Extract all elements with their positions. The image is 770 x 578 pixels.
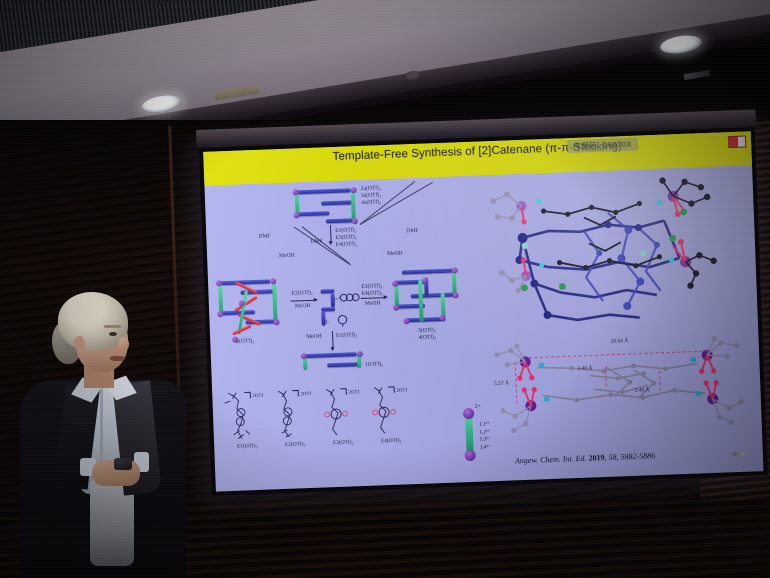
ligand-structure-1: 2OTf E1(OTf)₂ (222, 390, 270, 444)
crystal-structure-distances: 20.94 Å 5.57 Å 3.49 Å 3.49 Å (492, 331, 758, 451)
presenter-mouth (110, 356, 125, 361)
svg-text:2OTf: 2OTf (252, 394, 263, 399)
presentation-slide: Template-Free Synthesis of [2]Catenane (… (203, 131, 763, 491)
label-solvent-dmf-left: DMF (258, 233, 270, 240)
screen-cast-code-overlay: 传屏码: G6970X (567, 138, 638, 154)
distance-label-mid-left: 3.49 Å (577, 365, 592, 372)
legend-entry-4: L4²⁺ (480, 444, 491, 452)
legend-entries: L1²⁺ L2²⁺ L3²⁺ L4²⁺ (479, 421, 491, 451)
legend-entry-3: L3²⁺ (480, 436, 491, 444)
ligand-structure-3: 2OTf E3(OTf)₂ (318, 386, 366, 440)
conference-room-photo: Template-Free Synthesis of [2]Catenane (… (0, 0, 770, 578)
presenter-remote (114, 458, 132, 470)
label-solvent-meoh-right: MeOH (387, 250, 403, 258)
label-right-product-2: 4(OTf)₂ (418, 334, 436, 342)
citation-pages: , 58, 5882-5886 (604, 451, 655, 462)
ligand-structure-4: 2OTf E4(OTf)₂ (366, 384, 414, 438)
institution-logo-icon (728, 135, 746, 148)
label-bottom-solvent: MeOH (306, 334, 322, 342)
legend-metal-node-top (463, 408, 474, 419)
ligand-ring-icon (335, 312, 350, 327)
label-base-left: MeOH (295, 303, 311, 311)
ligand-label-4: E4(OTf)₂ (368, 437, 414, 445)
svg-text:2OTf: 2OTf (300, 392, 311, 397)
presenter-eye (109, 332, 117, 336)
citation-year: 2019 (588, 453, 604, 463)
legend-metal-node-bottom (465, 450, 476, 461)
label-center-reagent-3: E4(OTf)₂ (336, 241, 357, 249)
label-solvent-meoh-left: MeOH (279, 252, 295, 260)
presenter-ear (74, 336, 85, 351)
housing-brand-mark (684, 70, 711, 80)
ligand-structure-2: 2OTf E2(OTf)₂ (270, 388, 318, 442)
distance-label-mid-right: 3.49 Å (634, 387, 649, 394)
legend-charge: 2+ (475, 404, 481, 411)
presenter-eyebrow (104, 325, 121, 328)
citation-journal: Angew. Chem. Int. Ed. (515, 454, 589, 466)
mouse-cursor[interactable] (733, 452, 744, 456)
label-reagent-left: E2(OTf)₂ (291, 290, 312, 298)
ligand-schematic (338, 290, 360, 303)
label-solvent-dmf-center: DMF (310, 238, 322, 245)
svg-text:2OTf: 2OTf (396, 388, 407, 393)
projection-screen: Template-Free Synthesis of [2]Catenane (… (199, 127, 768, 496)
label-ligand-L: L (326, 319, 330, 326)
distance-label-left: 5.57 Å (494, 381, 509, 388)
ligand-label-1: E1(OTf)₂ (224, 443, 270, 451)
label-bottom-reagent: E1(OTf)₂ (336, 332, 357, 340)
ligand-label-2: E2(OTf)₂ (272, 441, 318, 449)
distance-label-top: 20.94 Å (610, 338, 628, 345)
presenter-nose (118, 337, 129, 351)
label-top-product-3: 4a(OTf)₂ (361, 199, 382, 207)
svg-text:2OTf: 2OTf (348, 390, 359, 395)
crystal-structure-catenane (486, 167, 754, 343)
label-solvent-dmf-right: DMF (406, 228, 418, 235)
legend-entry-1: L1²⁺ (479, 421, 490, 429)
presenter (14, 292, 196, 578)
label-left-product: 2(OTf)₂ (236, 338, 254, 346)
ligand-label-3: E3(OTf)₂ (320, 439, 366, 447)
label-base-right: MeOH (365, 300, 381, 308)
reaction-scheme: 2a(OTf)₂ 3a(OTf)₂ 4a(OTf)₂ DMF MeOH DMF … (208, 175, 497, 491)
citation: Angew. Chem. Int. Ed. 2019, 58, 5882-588… (515, 451, 656, 465)
label-bottom-product: 1(OTf)₂ (365, 361, 383, 369)
label-reagent-right-2: E4(OTf)₂ (361, 290, 382, 298)
